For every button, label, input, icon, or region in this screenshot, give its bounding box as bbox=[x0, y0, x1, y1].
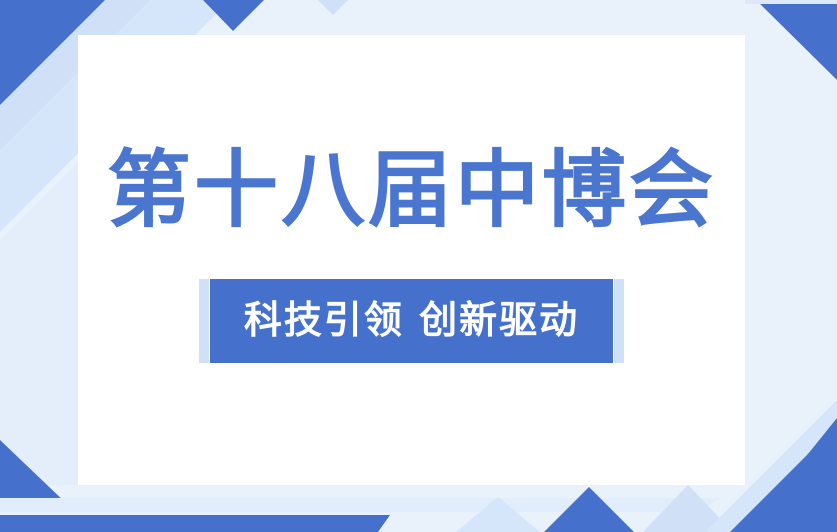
bottom-blue-bar bbox=[0, 515, 390, 532]
subtitle-right-edge bbox=[614, 279, 624, 363]
subtitle-banner: 科技引领 创新驱动 bbox=[199, 279, 624, 363]
top-center-light-triangle bbox=[318, 0, 348, 15]
bottom-left-triangle bbox=[0, 440, 68, 505]
top-left-soft-wedge bbox=[0, 162, 78, 485]
subtitle-text: 科技引领 创新驱动 bbox=[210, 279, 613, 363]
top-right-corner-triangle bbox=[756, 0, 837, 80]
bottom-right-light-triangle bbox=[643, 485, 733, 532]
promotional-poster: 第十八届中博会 科技引领 创新驱动 bbox=[0, 0, 837, 532]
bottom-right-corner-sliver bbox=[745, 418, 837, 532]
bottom-pale-wash bbox=[0, 498, 720, 512]
bottom-center-light-triangle bbox=[456, 497, 540, 532]
bottom-center-dark-triangle bbox=[544, 487, 634, 532]
bottom-right-corner-triangle bbox=[730, 425, 837, 532]
page-title: 第十八届中博会 bbox=[107, 148, 716, 232]
poster-content: 第十八届中博会 科技引领 创新驱动 bbox=[78, 35, 745, 485]
top-right-edge-strip bbox=[745, 0, 837, 4]
top-center-dark-triangle bbox=[203, 0, 264, 31]
subtitle-left-edge bbox=[199, 279, 209, 363]
